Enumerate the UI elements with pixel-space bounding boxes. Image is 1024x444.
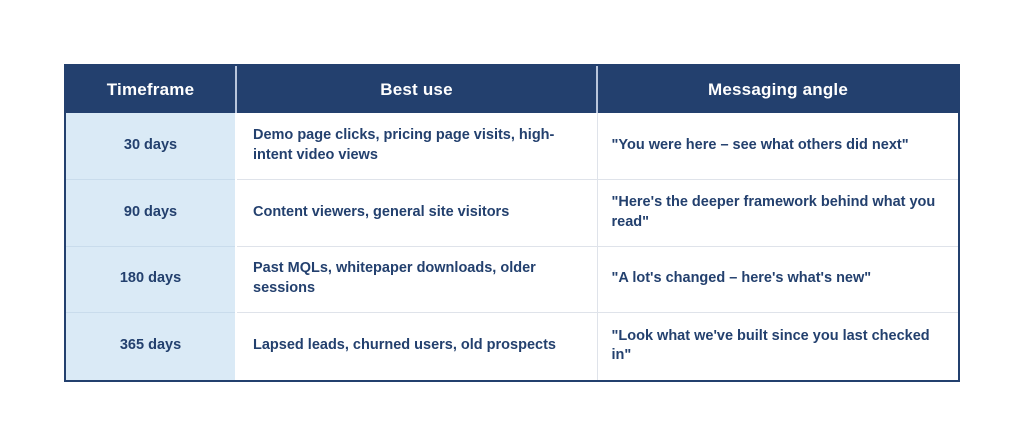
table-body: 30 days Demo page clicks, pricing page v… <box>66 113 958 380</box>
table-row: 90 days Content viewers, general site vi… <box>66 179 958 246</box>
cell-timeframe: 365 days <box>66 312 236 380</box>
cell-best-use: Content viewers, general site visitors <box>236 179 597 246</box>
column-header-best-use: Best use <box>236 66 597 113</box>
table-row: 30 days Demo page clicks, pricing page v… <box>66 113 958 179</box>
matrix-table: Timeframe Best use Messaging angle 30 da… <box>66 66 958 380</box>
cell-timeframe: 90 days <box>66 179 236 246</box>
page-canvas: Timeframe Best use Messaging angle 30 da… <box>0 0 1024 444</box>
cell-timeframe: 180 days <box>66 246 236 312</box>
cell-best-use: Demo page clicks, pricing page visits, h… <box>236 113 597 179</box>
cell-best-use: Past MQLs, whitepaper downloads, older s… <box>236 246 597 312</box>
cell-best-use: Lapsed leads, churned users, old prospec… <box>236 312 597 380</box>
header-row: Timeframe Best use Messaging angle <box>66 66 958 113</box>
table-header: Timeframe Best use Messaging angle <box>66 66 958 113</box>
table-row: 180 days Past MQLs, whitepaper downloads… <box>66 246 958 312</box>
cell-messaging-angle: "Look what we've built since you last ch… <box>597 312 958 380</box>
cell-timeframe: 30 days <box>66 113 236 179</box>
timeframe-matrix-table: Timeframe Best use Messaging angle 30 da… <box>64 64 960 382</box>
cell-messaging-angle: "A lot's changed – here's what's new" <box>597 246 958 312</box>
cell-messaging-angle: "Here's the deeper framework behind what… <box>597 179 958 246</box>
cell-messaging-angle: "You were here – see what others did nex… <box>597 113 958 179</box>
column-header-messaging-angle: Messaging angle <box>597 66 958 113</box>
column-header-timeframe: Timeframe <box>66 66 236 113</box>
table-row: 365 days Lapsed leads, churned users, ol… <box>66 312 958 380</box>
